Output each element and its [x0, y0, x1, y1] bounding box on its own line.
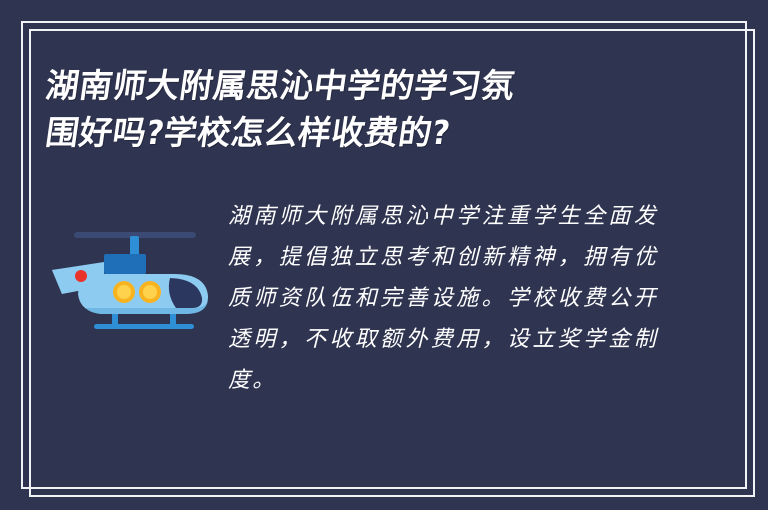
poster-canvas: 湖南师大附属思沁中学的学习氛 围好吗?学校怎么样收费的? — [0, 0, 768, 510]
title-line-1: 湖南师大附属思沁中学的学习氛 — [43, 62, 610, 109]
body-paragraph: 湖南师大附属思沁中学注重学生全面发展，提倡独立思考和创新精神，拥有优质师资队伍和… — [228, 196, 658, 401]
helicopter-icon — [46, 224, 222, 334]
title-line-2: 围好吗?学校怎么样收费的? — [43, 109, 610, 156]
content-row: 湖南师大附属思沁中学注重学生全面发展，提倡独立思考和创新精神，拥有优质师资队伍和… — [46, 196, 708, 401]
page-title: 湖南师大附属思沁中学的学习氛 围好吗?学校怎么样收费的? — [46, 62, 606, 156]
helicopter-illustration — [46, 196, 222, 334]
